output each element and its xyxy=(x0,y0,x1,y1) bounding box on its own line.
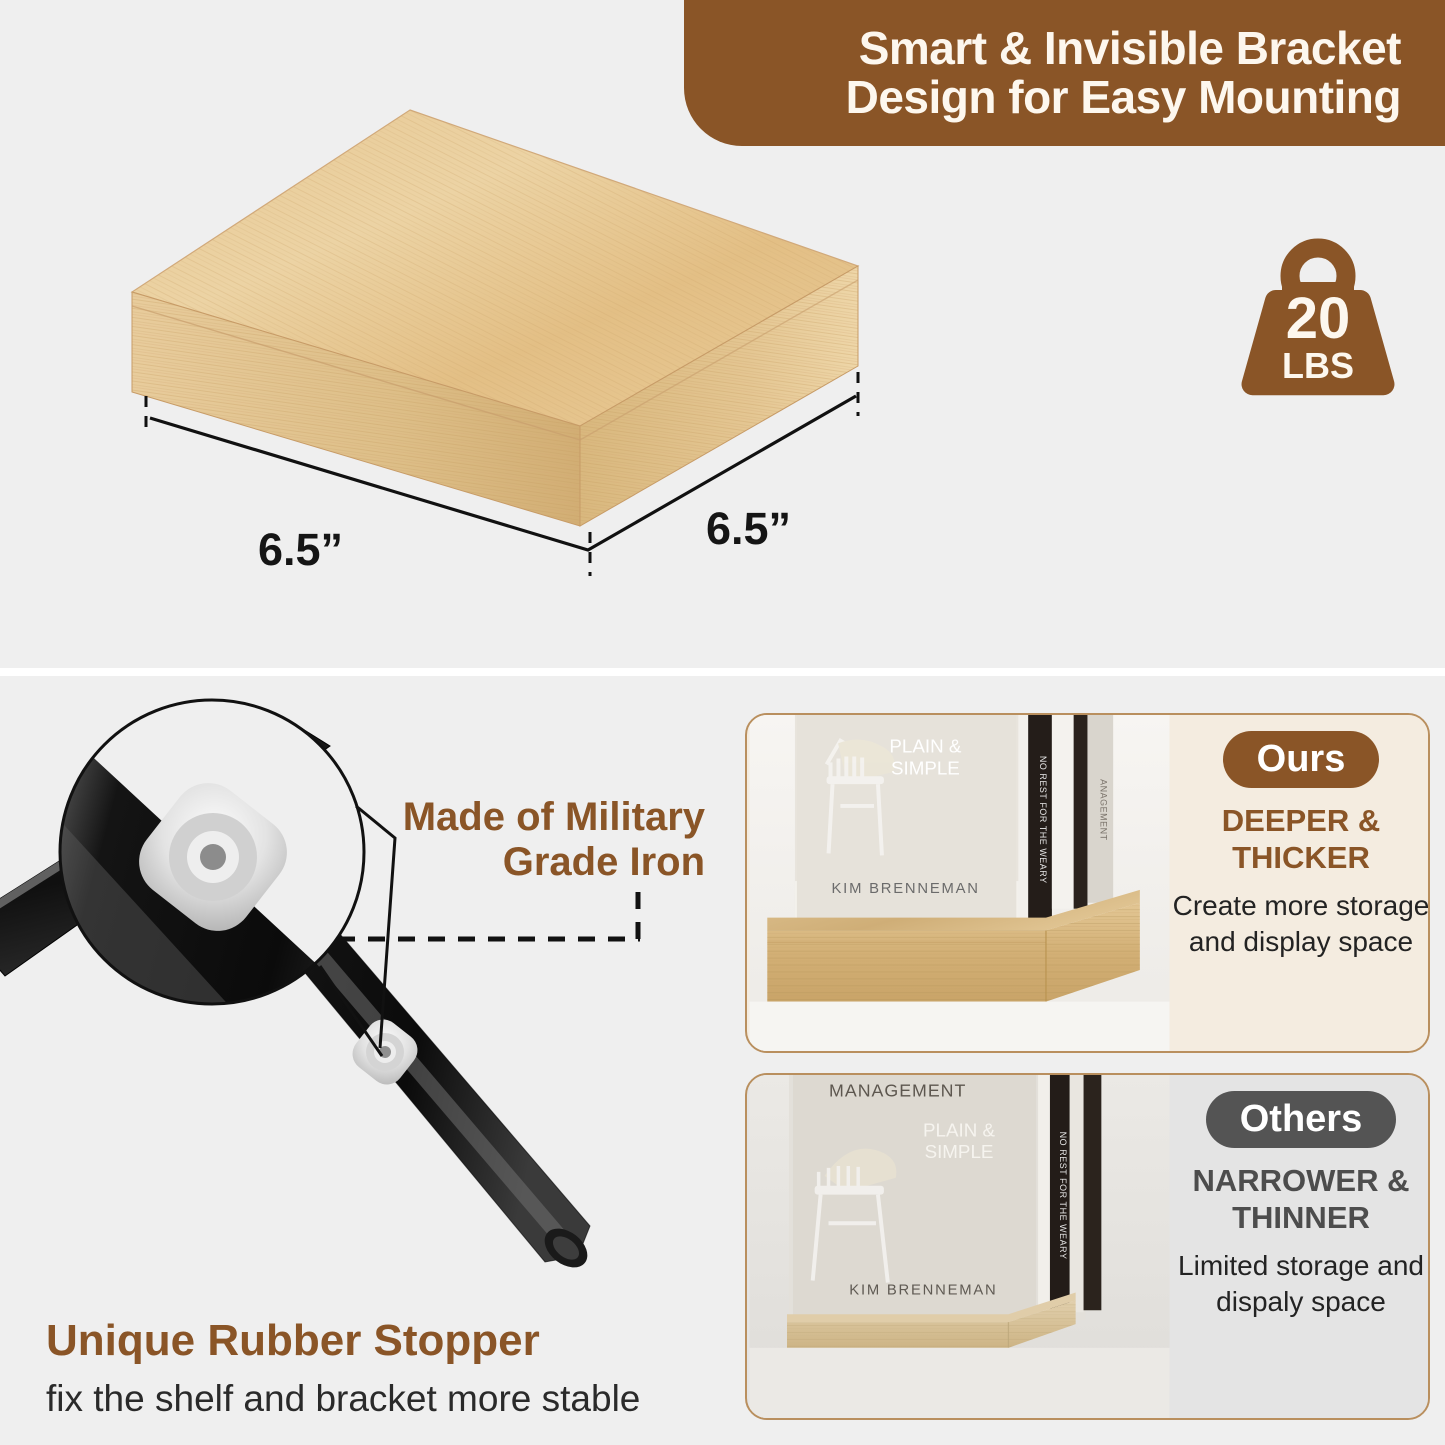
comparison-card-ours: PLAIN & SIMPLE KIM BRENNEMAN NO REST FOR… xyxy=(745,713,1430,1053)
military-grade-iron-title: Made of Military Grade Iron xyxy=(330,795,705,885)
section-divider xyxy=(0,668,1445,676)
ours-book-spines: NO REST FOR THE WEARY ANAGEMENT xyxy=(1018,715,1113,925)
others-spine-text: NO REST FOR THE WEARY xyxy=(1058,1132,1068,1260)
others-book-title-sub: MANAGEMENT xyxy=(829,1081,966,1101)
weight-unit: LBS xyxy=(1282,345,1354,386)
ours-spine-text-2: ANAGEMENT xyxy=(1098,779,1108,841)
others-photo: HOME MANAGEMENT PLAIN & SIMPLE KIM BRENN… xyxy=(747,1075,1172,1418)
ours-book-cover: PLAIN & SIMPLE KIM BRENNEMAN xyxy=(797,715,1016,927)
others-book-title-line-1: PLAIN & xyxy=(923,1119,995,1140)
comparison-card-others: HOME MANAGEMENT PLAIN & SIMPLE KIM BRENN… xyxy=(745,1073,1430,1420)
military-title-line-1: Made of Military xyxy=(403,795,705,839)
ours-pill-badge: Ours xyxy=(1223,731,1380,788)
rubber-stopper-magnifier xyxy=(0,700,470,1236)
rubber-stopper-title: Unique Rubber Stopper xyxy=(46,1316,540,1366)
top-panel: 6.5” 6.5” Smart & Invisible Bracket Desi… xyxy=(0,0,1445,668)
others-heading: NARROWER & THINNER xyxy=(1193,1162,1410,1236)
others-body-text: Limited storage and dispaly space xyxy=(1172,1248,1430,1320)
dimension-label-right: 6.5” xyxy=(706,503,791,555)
ours-heading-line-1: DEEPER & xyxy=(1222,803,1380,838)
others-book-cover: HOME MANAGEMENT PLAIN & SIMPLE KIM BRENN… xyxy=(793,1075,1036,1320)
rubber-stopper-subtitle: fix the shelf and bracket more stable xyxy=(46,1378,640,1420)
ours-book-title-line-2: SIMPLE xyxy=(891,757,960,778)
ours-body-text: Create more storage and display space xyxy=(1172,888,1430,960)
ours-book-author: KIM BRENNEMAN xyxy=(832,881,980,897)
ours-heading: DEEPER & THICKER xyxy=(1222,802,1380,876)
others-pill-badge: Others xyxy=(1206,1091,1396,1148)
weight-capacity-badge-icon: 20 LBS xyxy=(1236,238,1400,404)
infographic-canvas: 6.5” 6.5” Smart & Invisible Bracket Desi… xyxy=(0,0,1445,1445)
others-text-block: Others NARROWER & THINNER Limited storag… xyxy=(1172,1075,1430,1418)
header-title-line-2: Design for Easy Mounting xyxy=(846,73,1401,122)
header-title-line-1: Smart & Invisible Bracket xyxy=(859,24,1401,73)
ours-spine-text: NO REST FOR THE WEARY xyxy=(1038,756,1048,884)
others-heading-line-1: NARROWER & xyxy=(1193,1163,1410,1198)
ours-heading-line-2: THICKER xyxy=(1232,840,1370,875)
header-banner: Smart & Invisible Bracket Design for Eas… xyxy=(684,0,1445,146)
weight-value: 20 xyxy=(1286,286,1351,351)
others-book-title-line-2: SIMPLE xyxy=(925,1141,994,1162)
ours-photo: PLAIN & SIMPLE KIM BRENNEMAN NO REST FOR… xyxy=(747,715,1172,1051)
military-title-line-2: Grade Iron xyxy=(503,840,705,884)
others-book-spines: NO REST FOR THE WEARY xyxy=(1038,1075,1101,1316)
others-book-title-top: HOME xyxy=(844,1075,951,1079)
dimension-label-left: 6.5” xyxy=(258,524,343,576)
others-heading-line-2: THINNER xyxy=(1232,1200,1370,1235)
ours-text-block: Ours DEEPER & THICKER Create more storag… xyxy=(1172,715,1430,1051)
others-book-author: KIM BRENNEMAN xyxy=(849,1282,997,1298)
ours-book-title-line-1: PLAIN & xyxy=(889,736,961,757)
